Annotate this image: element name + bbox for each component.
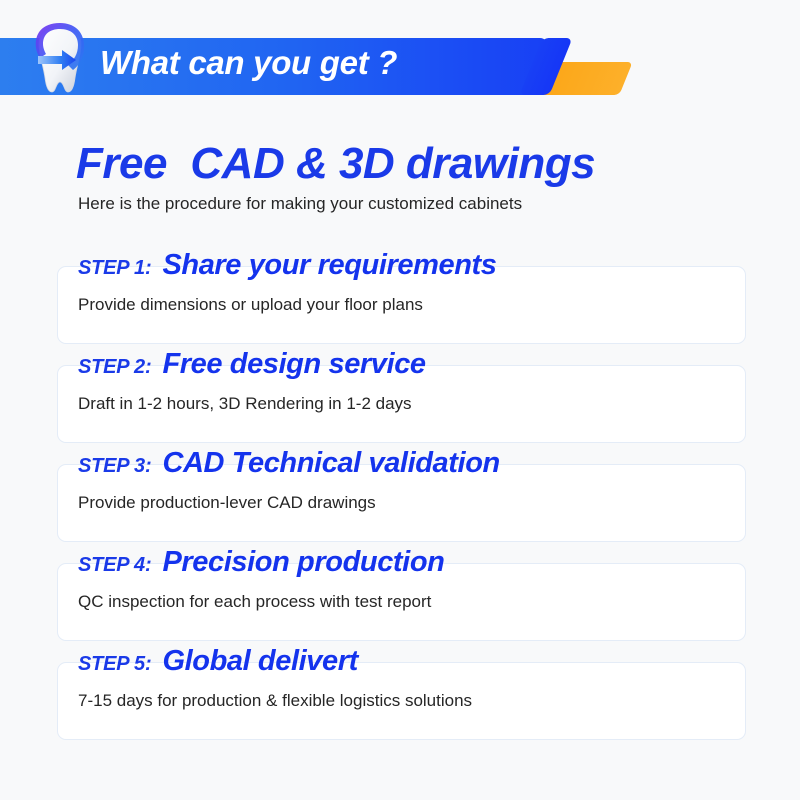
step-card-4: STEP 4: Precision production QC inspecti… [57,563,746,641]
tooth-with-arrow-logo [28,20,92,98]
step-title-1: Share your requirements [162,249,496,282]
step-label-2: STEP 2: [78,356,151,379]
header-banner: What can you get ? [0,0,800,110]
step-description-5: 7-15 days for production & flexible logi… [78,691,472,711]
step-description-3: Provide production-lever CAD drawings [78,493,376,513]
step-heading-4: STEP 4: Precision production [78,546,444,579]
step-card-1: STEP 1: Share your requirements Provide … [57,266,746,344]
step-card-3: STEP 3: CAD Technical validation Provide… [57,464,746,542]
step-label-1: STEP 1: [78,257,151,280]
page-subtitle: Here is the procedure for making your cu… [78,194,522,214]
step-title-3: CAD Technical validation [162,447,499,480]
step-heading-5: STEP 5: Global delivert [78,645,358,678]
step-description-2: Draft in 1-2 hours, 3D Rendering in 1-2 … [78,394,412,414]
step-label-3: STEP 3: [78,455,151,478]
step-description-1: Provide dimensions or upload your floor … [78,295,423,315]
step-card-2: STEP 2: Free design service Draft in 1-2… [57,365,746,443]
banner-title: What can you get ? [100,44,397,82]
page-title: Free CAD & 3D drawings [76,139,595,189]
step-title-4: Precision production [162,546,444,579]
step-title-2: Free design service [162,348,425,381]
step-card-5: STEP 5: Global delivert 7-15 days for pr… [57,662,746,740]
step-description-4: QC inspection for each process with test… [78,592,431,612]
step-heading-1: STEP 1: Share your requirements [78,249,497,282]
step-title-5: Global delivert [162,645,357,678]
step-heading-2: STEP 2: Free design service [78,348,426,381]
steps-list: STEP 1: Share your requirements Provide … [57,266,746,761]
step-heading-3: STEP 3: CAD Technical validation [78,447,500,480]
step-label-4: STEP 4: [78,554,151,577]
step-label-5: STEP 5: [78,653,151,676]
